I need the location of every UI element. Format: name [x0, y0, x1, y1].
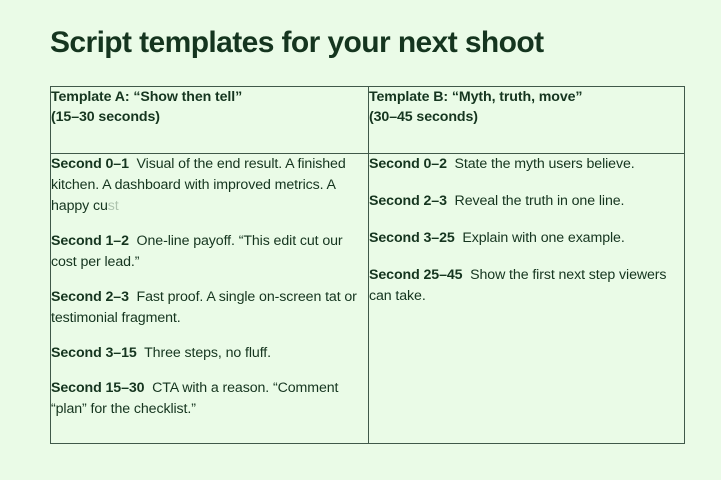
- timecode-label: Second 25–45: [369, 267, 462, 283]
- list-item: Second 0–1 Visual of the end result. A f…: [51, 154, 368, 217]
- list-item: Second 1–2 One-line payoff. “This edit c…: [51, 231, 368, 273]
- entry-text-truncated-tail: st: [108, 198, 119, 214]
- list-item: Second 25–45 Show the first next step vi…: [369, 265, 684, 307]
- column-header-template-a: Template A: “Show then tell” (15–30 seco…: [51, 87, 369, 154]
- entry-text: Explain with one example.: [462, 230, 624, 246]
- table-header-row: Template A: “Show then tell” (15–30 seco…: [51, 87, 685, 154]
- table-body-row: Second 0–1 Visual of the end result. A f…: [51, 154, 685, 444]
- page-title: Script templates for your next shoot: [50, 26, 543, 61]
- column-header-template-b: Template B: “Myth, truth, move” (30–45 s…: [369, 87, 685, 154]
- slide-canvas: Script templates for your next shoot Tem…: [0, 0, 721, 480]
- timecode-label: Second 0–1: [51, 156, 129, 172]
- list-item: Second 2–3 Fast proof. A single on-scree…: [51, 287, 368, 329]
- timecode-label: Second 15–30: [51, 380, 144, 396]
- entry-text: Reveal the truth in one line.: [455, 193, 625, 209]
- list-item: Second 3–15 Three steps, no fluff.: [51, 343, 368, 364]
- column-a-header-line2: (15–30 seconds): [51, 107, 368, 127]
- timecode-label: Second 3–25: [369, 230, 455, 246]
- column-a-header-line1: Template A: “Show then tell”: [51, 87, 368, 107]
- list-item: Second 15–30 CTA with a reason. “Comment…: [51, 378, 368, 420]
- timecode-label: Second 1–2: [51, 233, 129, 249]
- timecode-label: Second 2–3: [369, 193, 447, 209]
- entry-text: Three steps, no fluff.: [144, 345, 271, 361]
- list-item: Second 0–2 State the myth users believe.: [369, 154, 684, 175]
- column-b-header-line2: (30–45 seconds): [369, 107, 684, 127]
- column-b-header-line1: Template B: “Myth, truth, move”: [369, 87, 684, 107]
- entry-text: State the myth users believe.: [455, 156, 635, 172]
- timecode-label: Second 2–3: [51, 289, 129, 305]
- timecode-label: Second 3–15: [51, 345, 137, 361]
- column-body-template-b: Second 0–2 State the myth users believe.…: [369, 154, 685, 444]
- column-body-template-a: Second 0–1 Visual of the end result. A f…: [51, 154, 369, 444]
- script-templates-table: Template A: “Show then tell” (15–30 seco…: [50, 86, 685, 444]
- timecode-label: Second 0–2: [369, 156, 447, 172]
- list-item: Second 2–3 Reveal the truth in one line.: [369, 191, 684, 212]
- list-item: Second 3–25 Explain with one example.: [369, 228, 684, 249]
